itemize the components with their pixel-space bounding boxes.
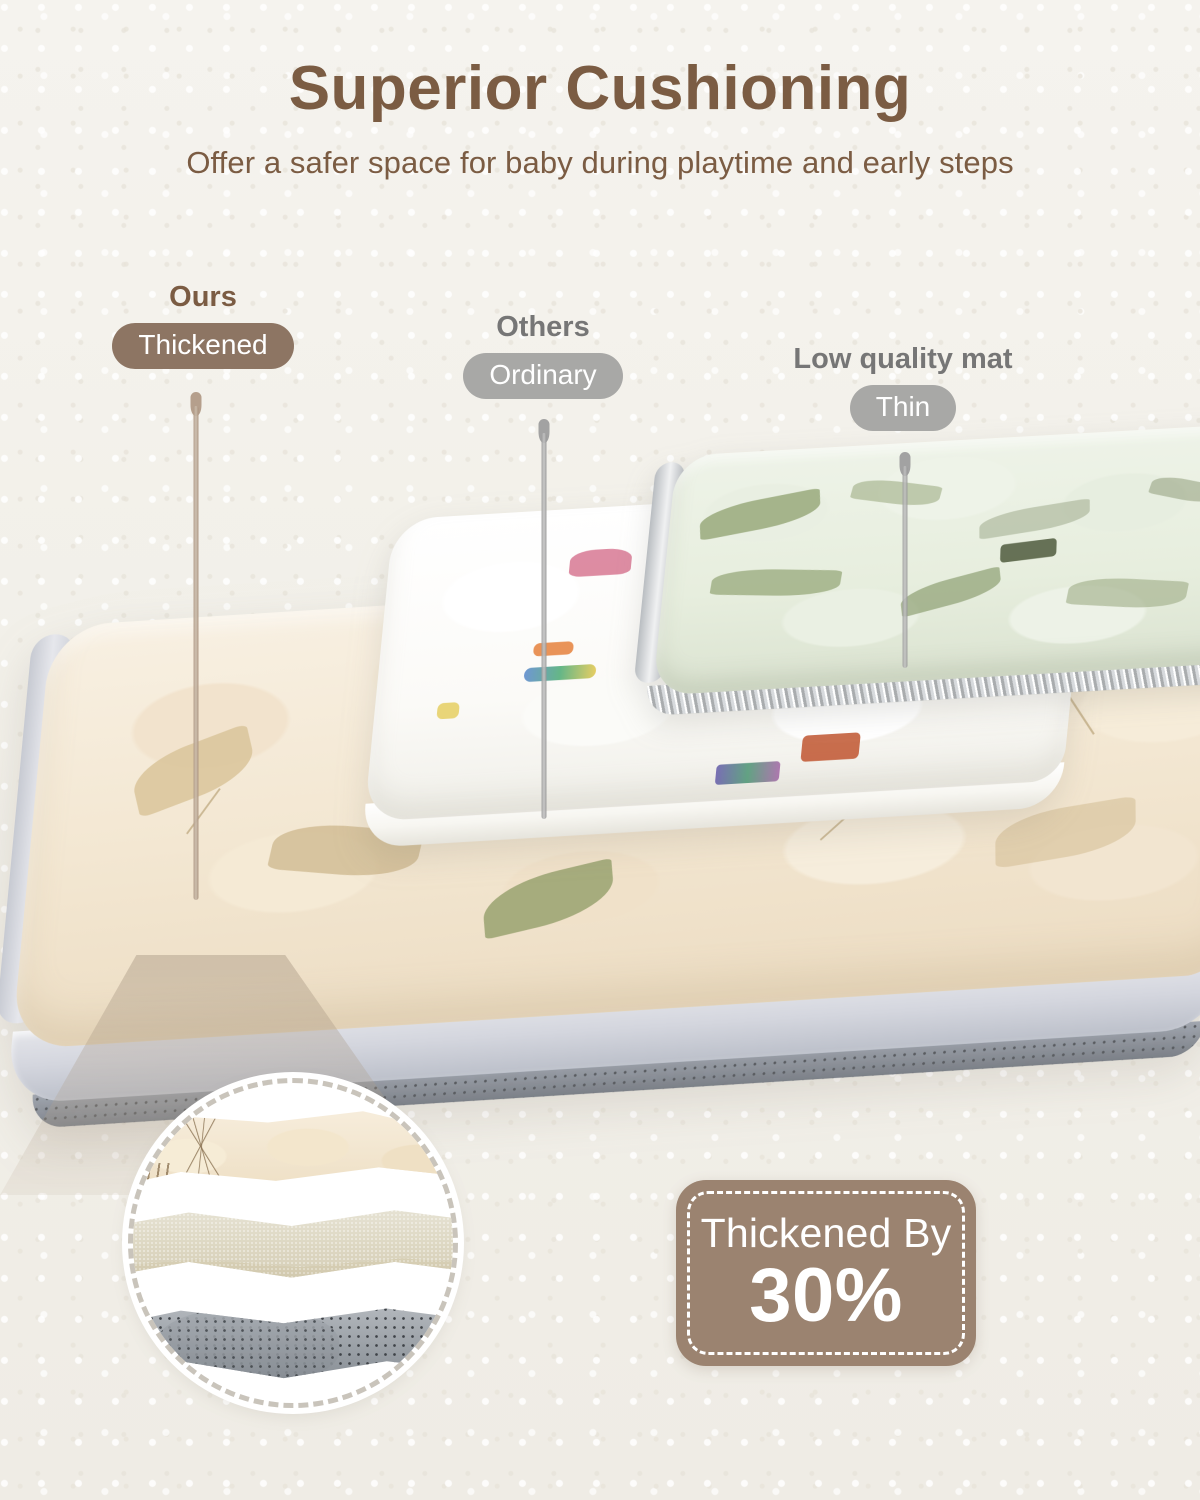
callout-others: Others Ordinary xyxy=(443,313,643,399)
thickened-by-percent: 30% xyxy=(749,1258,903,1334)
nonslip-quilt-hump xyxy=(157,1308,339,1382)
cross-section-layer-foam-core xyxy=(128,1197,458,1309)
cross-section-layer-nonslip-backing xyxy=(128,1296,458,1402)
page-title: Superior Cushioning xyxy=(0,56,1200,123)
callout-low-quality-caption: Low quality mat xyxy=(775,345,1031,374)
foam-lower-band xyxy=(128,1255,458,1309)
mat-stack-photo xyxy=(0,440,1200,1060)
cross-section-inset xyxy=(128,1078,458,1408)
pin-shaft xyxy=(903,466,908,668)
badge-thin: Thin xyxy=(850,385,956,431)
callout-low-quality: Low quality mat Thin xyxy=(775,345,1031,431)
mat-low-quality-thin xyxy=(652,422,1200,695)
thickened-by-badge: Thickened By 30% xyxy=(676,1180,976,1366)
page-subtitle: Offer a safer space for baby during play… xyxy=(0,145,1200,181)
badge-ordinary: Ordinary xyxy=(463,353,622,399)
thickened-by-label: Thickened By xyxy=(701,1213,952,1254)
callout-ours-caption: Ours xyxy=(98,283,308,312)
mat-low-surface xyxy=(652,422,1200,695)
header: Superior Cushioning Offer a safer space … xyxy=(0,0,1200,181)
measuring-pin-others xyxy=(538,419,550,819)
stripe-print xyxy=(128,1163,175,1191)
measuring-pin-low-quality xyxy=(899,452,911,668)
badge-thickened: Thickened xyxy=(112,323,293,369)
callout-others-caption: Others xyxy=(443,313,643,342)
pin-shaft xyxy=(194,406,199,900)
measuring-pin-ours xyxy=(190,392,202,900)
pin-shaft xyxy=(542,433,547,819)
callout-ours: Ours Thickened xyxy=(98,283,308,369)
